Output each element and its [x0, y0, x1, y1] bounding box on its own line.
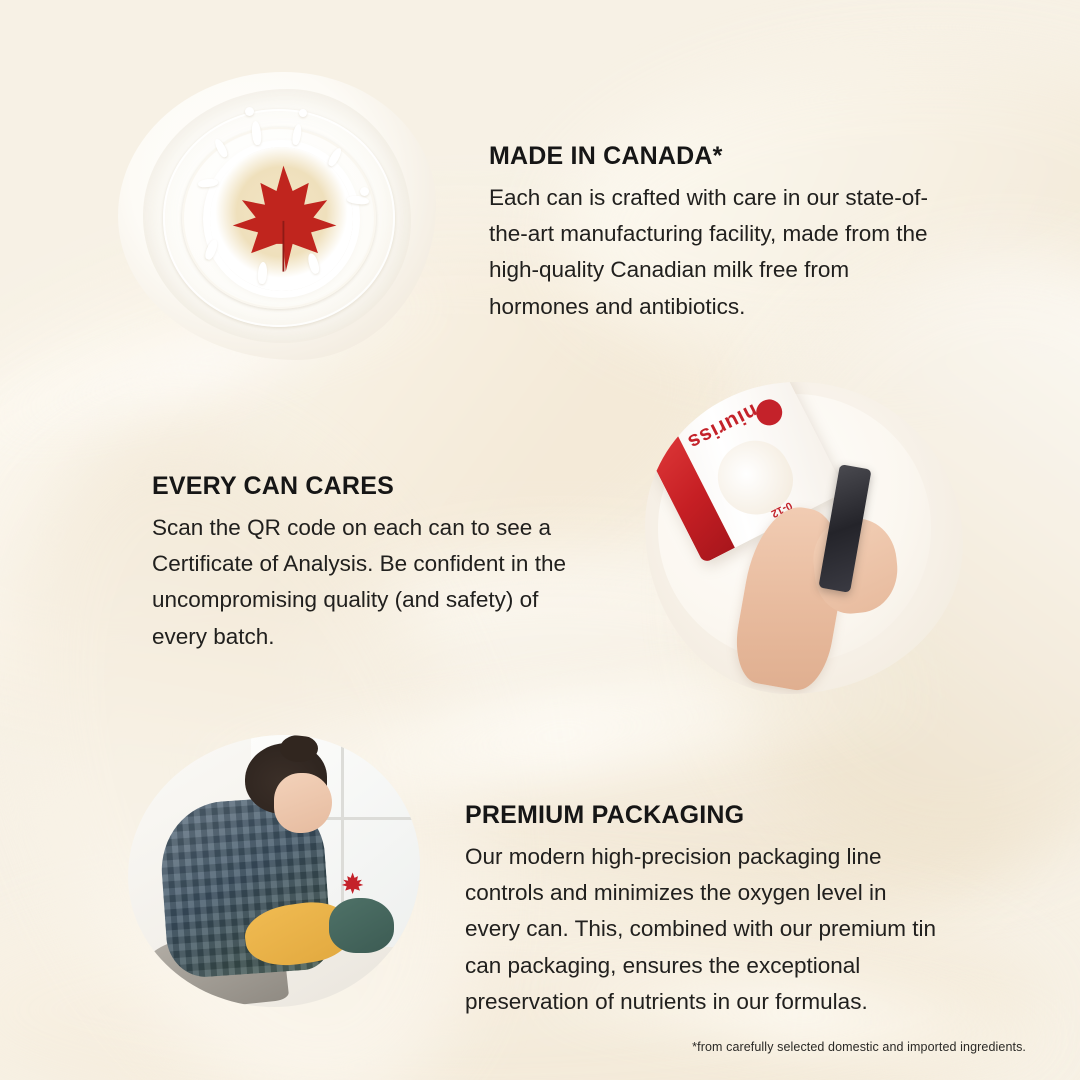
maple-leaf-icon — [338, 871, 367, 895]
maple-leaf-icon — [223, 161, 344, 276]
can-badge-icon — [752, 395, 787, 430]
body-every-can-cares: Scan the QR code on each can to see a Ce… — [152, 510, 582, 656]
section-premium-packaging-text: PREMIUM PACKAGING Our modern high-precis… — [465, 802, 943, 1021]
body-made-in-canada: Each can is crafted with care in our sta… — [489, 180, 951, 326]
heading-made-in-canada: MADE IN CANADA* — [489, 143, 951, 171]
heading-every-can-cares: EVERY CAN CARES — [152, 473, 582, 501]
body-premium-packaging: Our modern high-precision packaging line… — [465, 839, 943, 1021]
section-every-can-cares-text: EVERY CAN CARES Scan the QR code on each… — [152, 473, 582, 655]
footnote: *from carefully selected domestic and im… — [692, 1040, 1026, 1054]
section-made-in-canada-text: MADE IN CANADA* Each can is crafted with… — [489, 143, 951, 325]
infographic-page: MADE IN CANADA* Each can is crafted with… — [0, 0, 1080, 1080]
heading-premium-packaging: PREMIUM PACKAGING — [465, 802, 943, 830]
